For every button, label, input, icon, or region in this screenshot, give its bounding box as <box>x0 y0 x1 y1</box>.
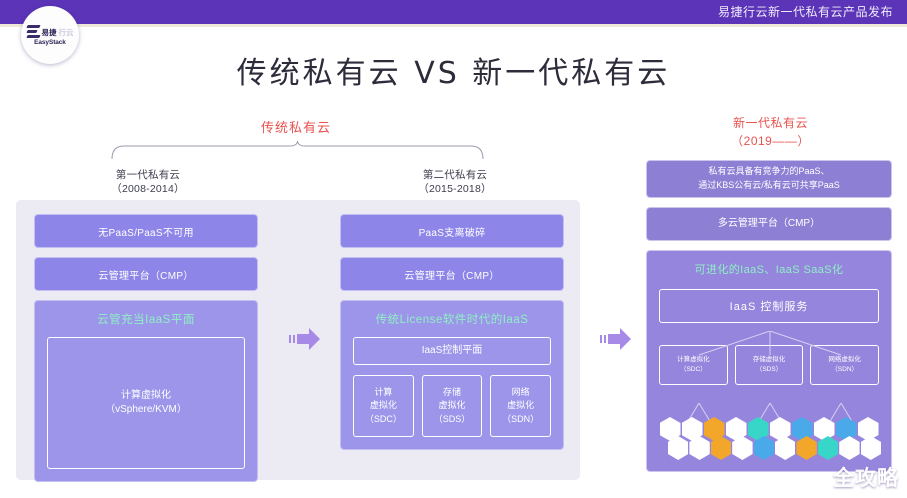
new-gen-paas-line1: 私有云具备有竞争力的PaaS、 <box>698 165 840 179</box>
generation-2-label: 第二代私有云 （2015-2018） <box>400 168 510 196</box>
arrow-traditional-to-new-icon <box>598 326 632 352</box>
generation-2-name: 第二代私有云 <box>400 168 510 182</box>
generation-1-years: （2008-2014） <box>93 182 203 196</box>
gen2-cell-2-line1: 网络 <box>502 386 539 400</box>
gen2-cell-2-line3: （SDN） <box>502 413 539 427</box>
traditional-cloud-heading: 传统私有云 <box>196 117 396 136</box>
new-gen-heading-line1: 新一代私有云 <box>658 114 883 132</box>
gen1-iaas-title: 云管充当IaaS平面 <box>47 311 245 327</box>
generation-1-label: 第一代私有云 （2008-2014） <box>93 168 203 196</box>
gen1-compute-line2: （vSphere/KVM） <box>105 403 187 418</box>
traditional-bracket <box>110 140 485 160</box>
top-bar: 易捷行云新一代私有云产品发布 <box>0 0 907 24</box>
logo-en-text: EasyStack <box>27 40 74 47</box>
iaas-control-service-box: IaaS 控制服务 <box>659 289 879 323</box>
hexagon-row-2 <box>668 436 881 460</box>
hexagon-tile <box>861 436 881 460</box>
generation-2-years: （2015-2018） <box>400 182 510 196</box>
newgen-cell-2-line2: （SDN） <box>828 365 861 375</box>
hexagon-tile <box>839 436 859 460</box>
arrow-gen1-to-gen2-icon <box>287 326 321 352</box>
gen1-compute-virtualization-box: 计算虚拟化 （vSphere/KVM） <box>47 337 245 469</box>
gen1-iaas-block: 云管充当IaaS平面 计算虚拟化 （vSphere/KVM） <box>34 300 258 482</box>
gen2-cell-1-line2: 虚拟化 <box>434 399 471 413</box>
gen1-compute-line1: 计算虚拟化 <box>105 389 187 404</box>
new-gen-cmp-block: 多云管理平台（CMP） <box>646 207 892 241</box>
newgen-cell-0-line2: （SDC） <box>677 365 710 375</box>
control-service-connectors <box>659 331 881 359</box>
gen1-paas-block: 无PaaS/PaaS不可用 <box>34 214 258 248</box>
gen2-virtualization-row: 计算 虚拟化 （SDC） 存储 虚拟化 （SDS） <box>353 375 551 437</box>
gen2-compute-virtualization-cell: 计算 虚拟化 （SDC） <box>353 375 414 437</box>
gen1-cmp-block: 云管理平台（CMP） <box>34 257 258 291</box>
watermark: 全攻略 <box>833 462 899 492</box>
gen2-cell-0-line2: 虚拟化 <box>365 399 402 413</box>
gen2-storage-virtualization-cell: 存储 虚拟化 （SDS） <box>422 375 483 437</box>
gen2-cmp-block: 云管理平台（CMP） <box>340 257 564 291</box>
page-title: 传统私有云 VS 新一代私有云 <box>0 48 907 92</box>
slide-canvas: 易捷行云新一代私有云产品发布 易捷 行云 EasyStack 传统私有云 VS … <box>0 0 907 498</box>
new-gen-heading-line2: （2019——） <box>658 132 883 150</box>
new-gen-paas-line2: 通过KBS公有云/私有云可共享PaaS <box>698 179 840 193</box>
gen2-cell-0-line1: 计算 <box>365 386 402 400</box>
gen2-cell-1-line1: 存储 <box>434 386 471 400</box>
generation-1-column: 无PaaS/PaaS不可用 云管理平台（CMP） 云管充当IaaS平面 计算虚拟… <box>34 214 258 482</box>
hexagon-resource-pool <box>657 417 881 463</box>
newgen-cell-1-line2: （SDS） <box>753 365 786 375</box>
logo-cn-faint-text: 行云 <box>59 29 74 37</box>
generation-1-name: 第一代私有云 <box>93 168 203 182</box>
hexagon-tile <box>818 436 838 460</box>
new-gen-iaas-title: 可进化的IaaS、IaaS SaaS化 <box>659 261 879 277</box>
new-gen-iaas-block: 可进化的IaaS、IaaS SaaS化 IaaS 控制服务 计算虚拟化 （SDC… <box>646 250 892 472</box>
logo-cn-text: 易捷 <box>42 29 57 37</box>
top-bar-title: 易捷行云新一代私有云产品发布 <box>718 3 893 20</box>
generation-2-column: PaaS支离破碎 云管理平台（CMP） 传统License软件时代的IaaS I… <box>340 214 564 450</box>
new-gen-cloud-panel: 私有云具备有竞争力的PaaS、 通过KBS公有云/私有云可共享PaaS 多云管理… <box>646 160 892 480</box>
gen2-paas-block: PaaS支离破碎 <box>340 214 564 248</box>
gen2-control-plane-box: IaaS控制平面 <box>353 337 551 365</box>
gen2-iaas-title: 传统License软件时代的IaaS <box>353 311 551 327</box>
logo-mark-icon <box>27 25 40 39</box>
gen2-network-virtualization-cell: 网络 虚拟化 （SDN） <box>490 375 551 437</box>
new-gen-paas-block: 私有云具备有竞争力的PaaS、 通过KBS公有云/私有云可共享PaaS <box>646 160 892 198</box>
top-bar-divider <box>0 24 907 27</box>
gen2-cell-2-line2: 虚拟化 <box>502 399 539 413</box>
gen2-cell-1-line3: （SDS） <box>434 413 471 427</box>
new-gen-cloud-heading: 新一代私有云 （2019——） <box>658 114 883 150</box>
gen2-cell-0-line3: （SDC） <box>365 413 402 427</box>
hexagon-tile <box>796 436 816 460</box>
gen2-iaas-block: 传统License软件时代的IaaS IaaS控制平面 计算 虚拟化 （SDC）… <box>340 300 564 450</box>
